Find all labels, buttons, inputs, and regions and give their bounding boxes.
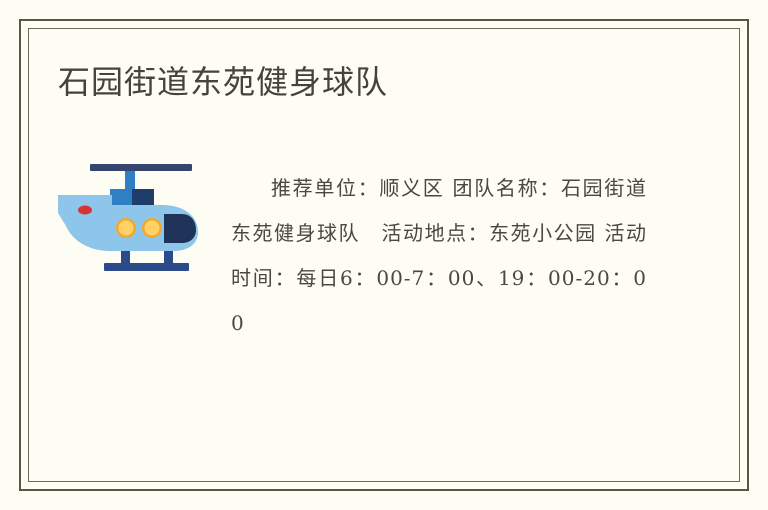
window-front-inner [119, 221, 134, 236]
page-title: 石园街道东苑健身球队 [58, 62, 678, 102]
skid-strut-right [164, 251, 173, 264]
rotor-blade [90, 164, 192, 171]
helicopter-icon [52, 158, 222, 276]
rotor-mast [125, 171, 135, 191]
nose-light [78, 206, 92, 215]
skid-strut-left [121, 251, 130, 264]
windshield [164, 214, 196, 243]
team-details-paragraph: 推荐单位：顺义区 团队名称：石园街道东苑健身球队 活动地点：东苑小公园 活动时间… [231, 166, 647, 346]
engine-housing-left [110, 189, 132, 207]
window-rear-inner [145, 221, 160, 236]
landing-skid [104, 263, 189, 271]
engine-housing-right [132, 189, 154, 207]
team-info-card: 石园街道东苑健身球队 推荐单位：顺义区 [0, 0, 768, 510]
